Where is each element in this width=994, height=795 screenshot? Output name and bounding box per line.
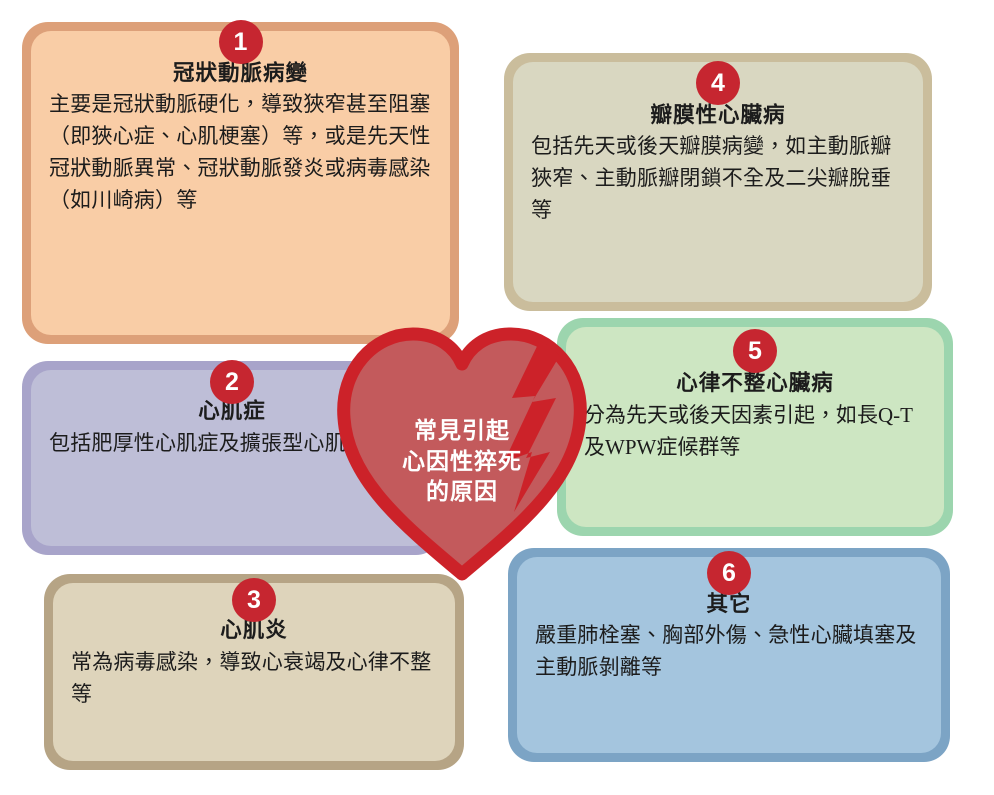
card-title-5: 心律不整心臟病	[676, 370, 834, 397]
card-number-badge-1: 1	[219, 20, 263, 64]
card-body-5: 分為先天或後天因素引起，如長Q-T及WPW症候群等	[584, 400, 926, 464]
cause-card-1[interactable]: 1 冠狀動脈病變 主要是冠狀動脈硬化，導致狹窄甚至阻塞（即狹心症、心肌梗塞）等，…	[22, 22, 459, 344]
card-number-badge-3: 3	[232, 578, 276, 622]
card-body-1: 主要是冠狀動脈硬化，導致狹窄甚至阻塞（即狹心症、心肌梗塞）等，或是先天性冠狀動脈…	[49, 89, 432, 217]
card-title-6: 其它	[706, 591, 751, 618]
card-title-4: 瓣膜性心臟病	[650, 102, 785, 129]
infographic-canvas: 1 冠狀動脈病變 主要是冠狀動脈硬化，導致狹窄甚至阻塞（即狹心症、心肌梗塞）等，…	[0, 0, 994, 795]
card-number-badge-6: 6	[707, 551, 751, 595]
cause-card-3[interactable]: 3 心肌炎 常為病毒感染，導致心衰竭及心律不整等	[44, 574, 464, 770]
cause-card-5[interactable]: 5 心律不整心臟病 分為先天或後天因素引起，如長Q-T及WPW症候群等	[557, 318, 953, 536]
card-number-badge-2: 2	[210, 360, 254, 404]
card-number-badge-4: 4	[696, 61, 740, 105]
card-body-4: 包括先天或後天瓣膜病變，如主動脈瓣狹窄、主動脈瓣閉鎖不全及二尖瓣脫垂等	[531, 131, 905, 227]
broken-heart-icon: 常見引起 心因性猝死 的原因	[336, 312, 588, 584]
card-title-1: 冠狀動脈病變	[173, 60, 308, 87]
cause-card-4[interactable]: 4 瓣膜性心臟病 包括先天或後天瓣膜病變，如主動脈瓣狹窄、主動脈瓣閉鎖不全及二尖…	[504, 53, 932, 311]
card-body-3: 常為病毒感染，導致心衰竭及心律不整等	[71, 647, 437, 711]
card-inner-1: 冠狀動脈病變 主要是冠狀動脈硬化，導致狹窄甚至阻塞（即狹心症、心肌梗塞）等，或是…	[31, 31, 450, 335]
card-number-badge-5: 5	[733, 329, 777, 373]
card-body-6: 嚴重肺栓塞、胸部外傷、急性心臟填塞及主動脈剝離等	[535, 620, 923, 684]
